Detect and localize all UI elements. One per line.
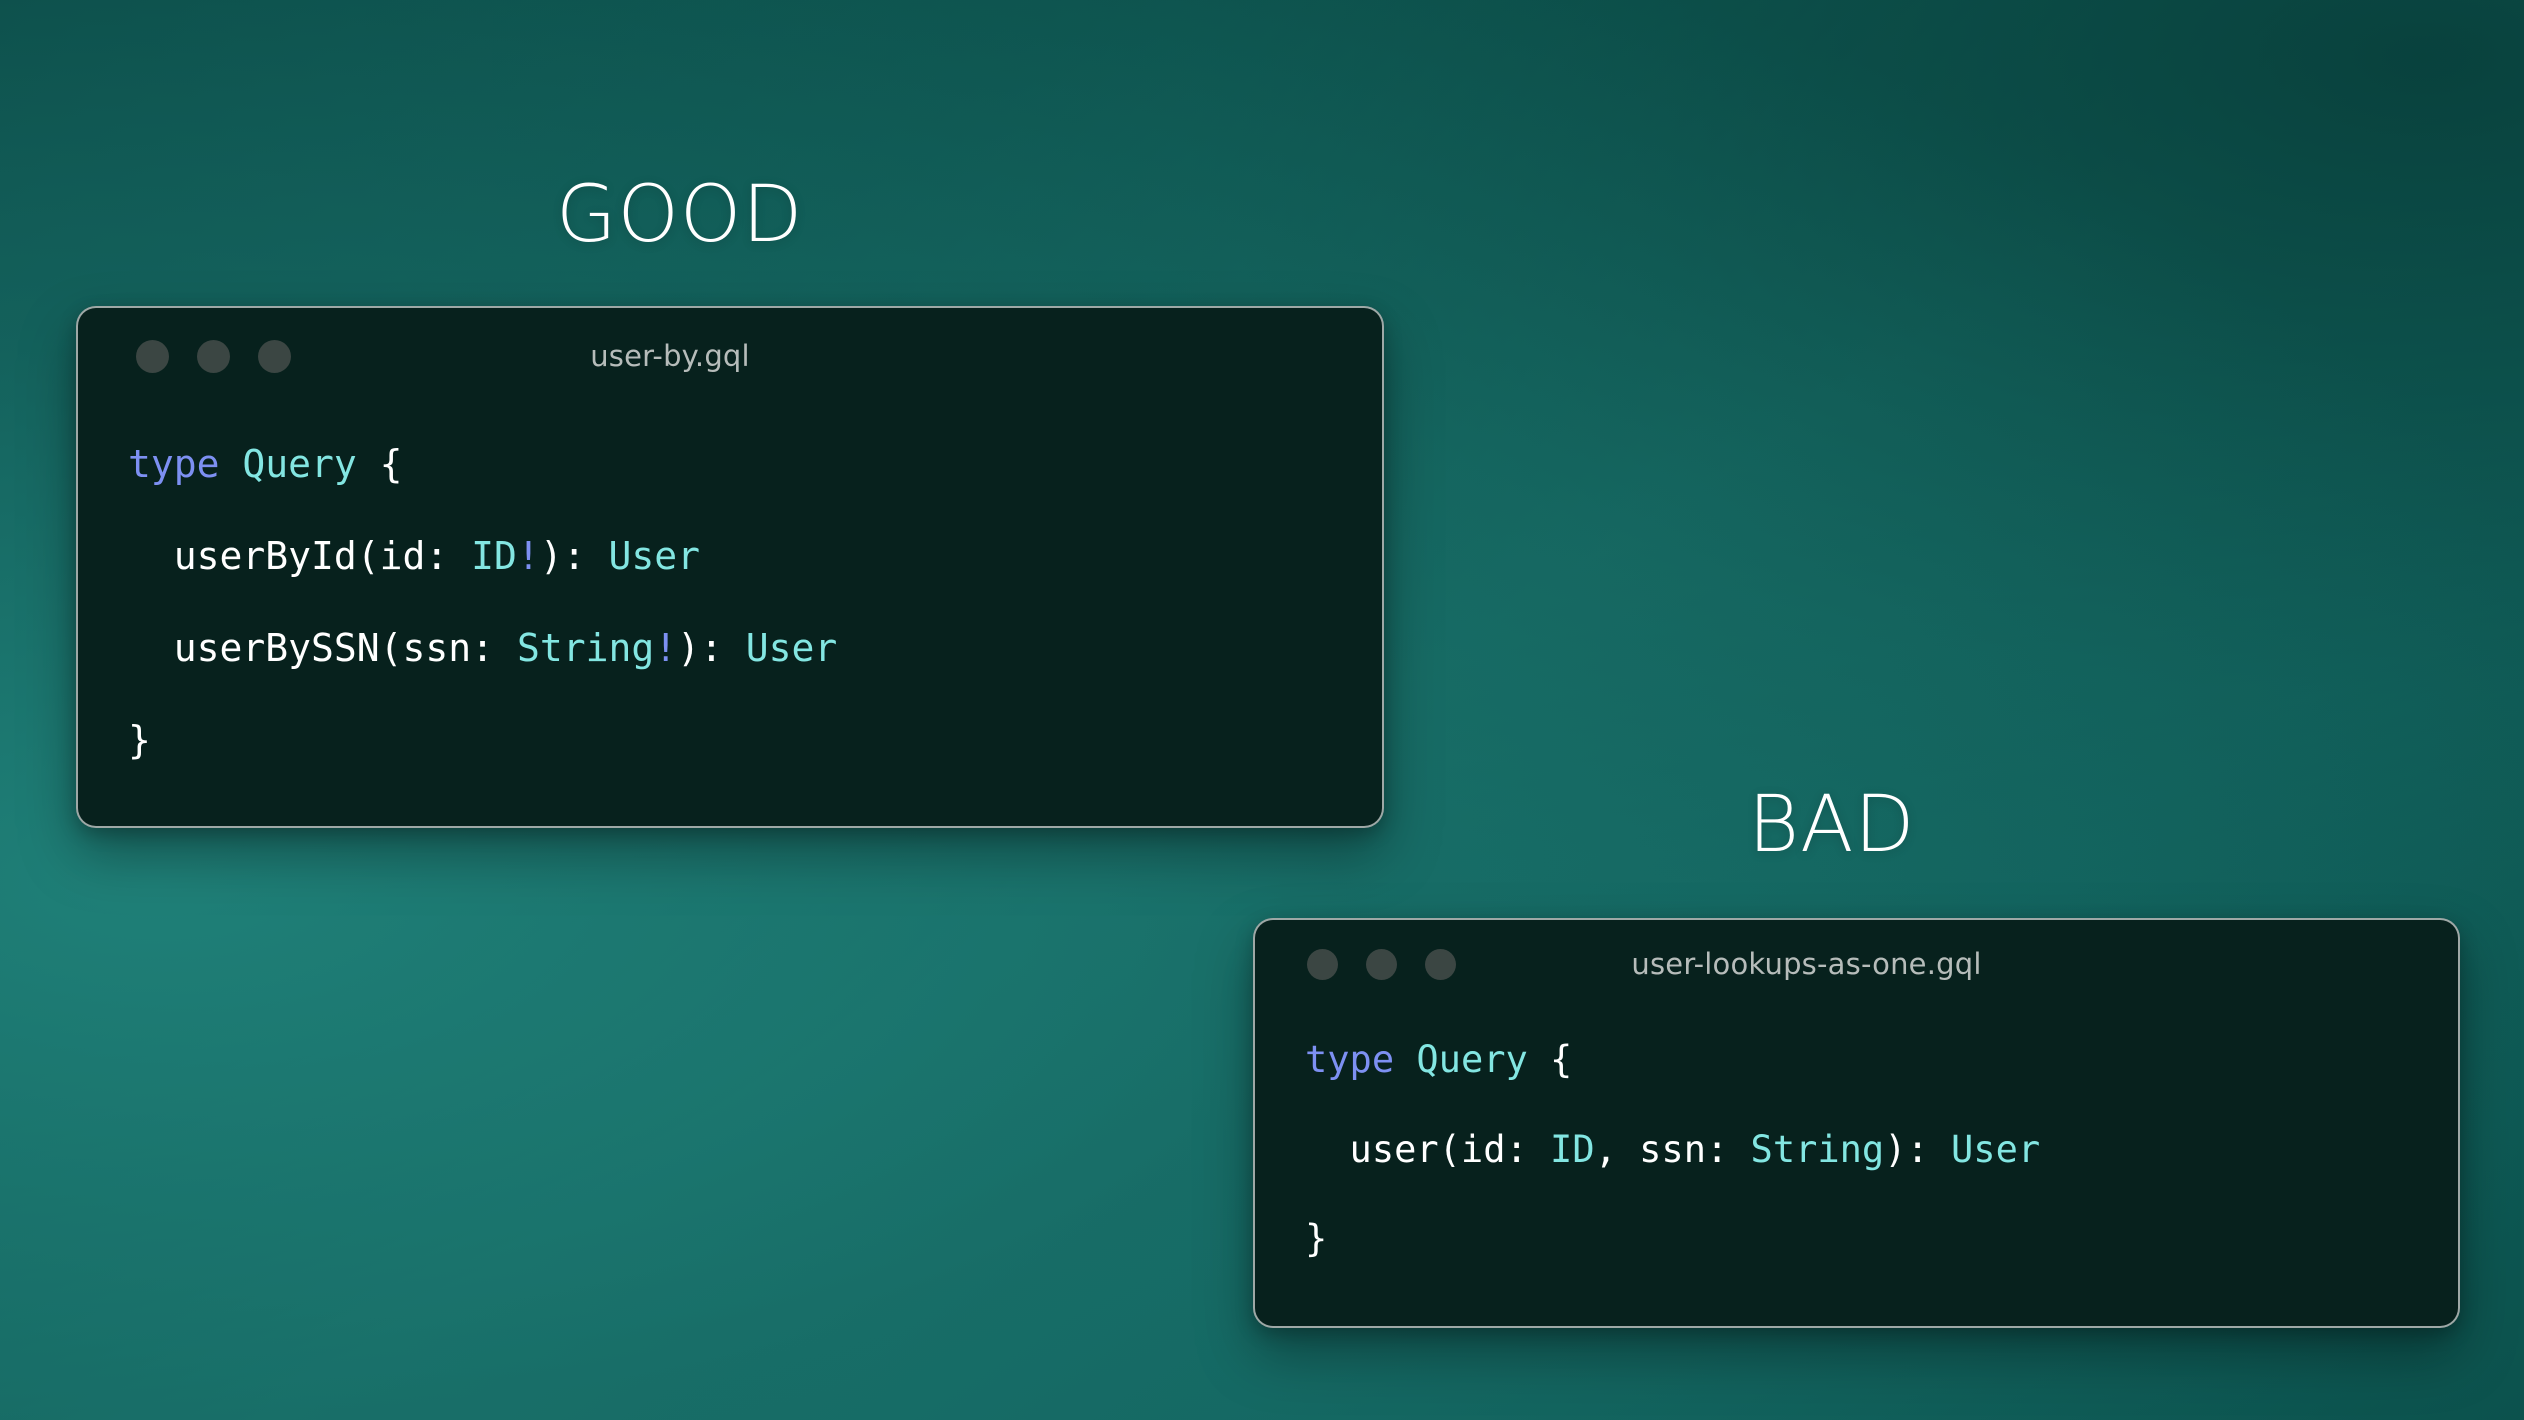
code-token-plain <box>220 442 243 486</box>
code-window-good: user-by.gql type Query { userById(id: ID… <box>76 306 1384 828</box>
code-token-plain: ): <box>1884 1128 1951 1171</box>
code-line: } <box>128 718 1382 764</box>
code-token-plain <box>1394 1038 1416 1081</box>
code-token-plain: userBySSN(ssn: <box>128 626 517 670</box>
code-line: userBySSN(ssn: String!): User <box>128 626 1382 672</box>
code-line: user(id: ID, ssn: String): User <box>1305 1128 2458 1173</box>
code-content: type Query { user(id: ID, ssn: String): … <box>1255 1008 2458 1262</box>
code-content: type Query { userById(id: ID!): User use… <box>78 404 1382 764</box>
section-label-bad: BAD <box>1748 786 1916 864</box>
code-line: type Query { <box>1305 1038 2458 1083</box>
code-token-bang: ! <box>517 534 540 578</box>
comparison-canvas: GOOD user-by.gql type Query { userById(i… <box>0 0 2524 1420</box>
code-token-type: Query <box>242 442 356 486</box>
code-token-plain: { <box>357 442 403 486</box>
close-dot-icon[interactable] <box>1307 949 1338 980</box>
code-token-plain: userById(id: <box>128 534 471 578</box>
code-token-type: String <box>517 626 654 670</box>
traffic-lights <box>1307 949 1456 980</box>
code-token-type: ID <box>1550 1128 1595 1171</box>
code-line: type Query { <box>128 442 1382 488</box>
code-token-plain: { <box>1528 1038 1573 1081</box>
code-token-type: User <box>746 626 838 670</box>
maximize-dot-icon[interactable] <box>258 340 291 373</box>
minimize-dot-icon[interactable] <box>197 340 230 373</box>
code-token-type: Query <box>1416 1038 1527 1081</box>
code-token-kw: type <box>1305 1038 1394 1081</box>
traffic-lights <box>136 340 291 373</box>
code-token-type: ID <box>471 534 517 578</box>
window-titlebar: user-by.gql <box>78 308 1382 404</box>
section-label-good: GOOD <box>556 176 803 254</box>
code-line: userById(id: ID!): User <box>128 534 1382 580</box>
code-token-bang: ! <box>654 626 677 670</box>
code-line: } <box>1305 1217 2458 1262</box>
maximize-dot-icon[interactable] <box>1425 949 1456 980</box>
code-token-plain: user(id: <box>1305 1128 1550 1171</box>
window-titlebar: user-lookups-as-one.gql <box>1255 920 2458 1008</box>
code-token-plain: } <box>1305 1217 1327 1260</box>
code-token-plain: } <box>128 718 151 762</box>
code-token-plain: ): <box>677 626 746 670</box>
code-token-plain: ): <box>540 534 609 578</box>
close-dot-icon[interactable] <box>136 340 169 373</box>
code-token-type: User <box>1951 1128 2040 1171</box>
code-token-type: String <box>1751 1128 1885 1171</box>
code-token-type: User <box>608 534 700 578</box>
code-window-bad: user-lookups-as-one.gql type Query { use… <box>1253 918 2460 1328</box>
code-token-plain: , ssn: <box>1595 1128 1751 1171</box>
code-token-kw: type <box>128 442 220 486</box>
minimize-dot-icon[interactable] <box>1366 949 1397 980</box>
